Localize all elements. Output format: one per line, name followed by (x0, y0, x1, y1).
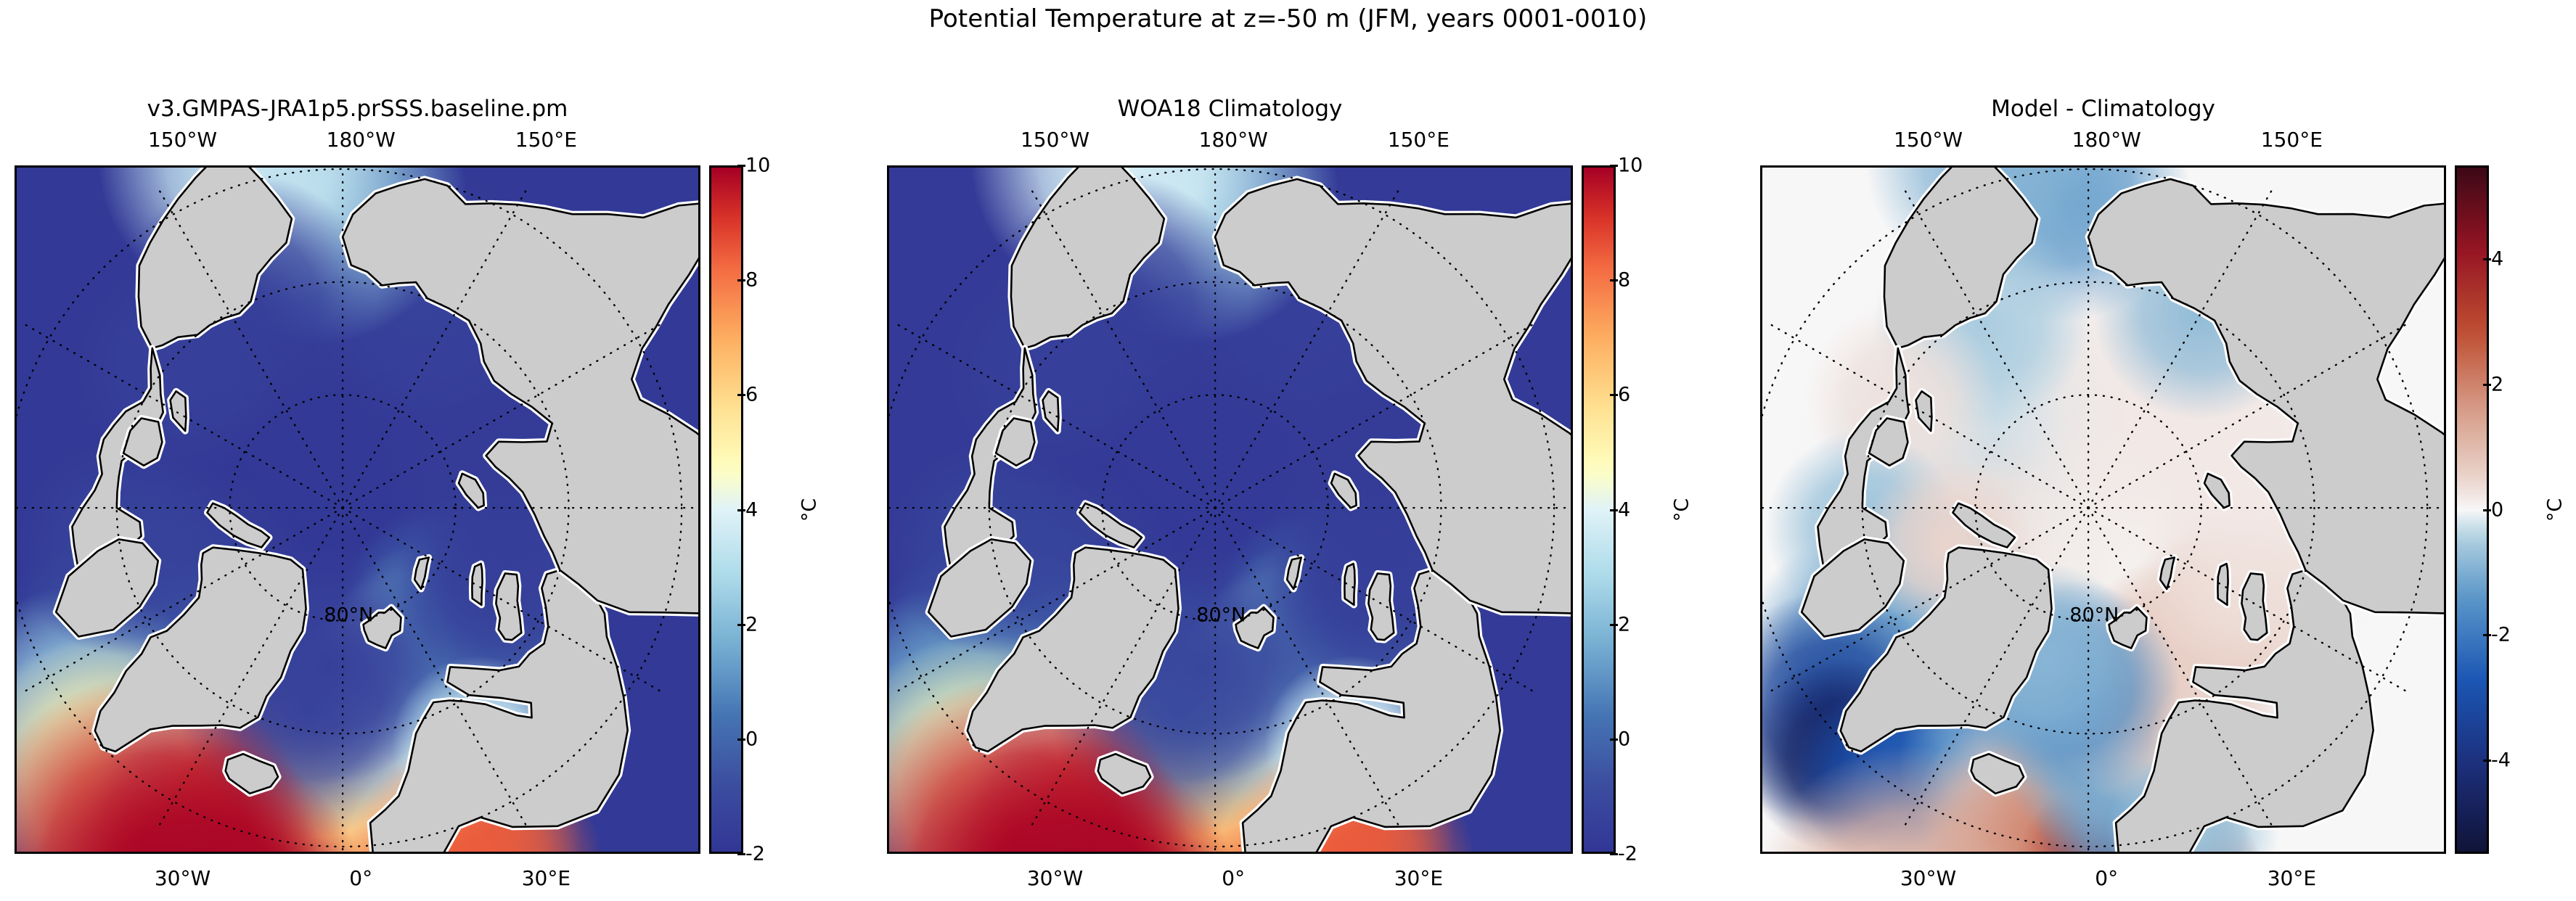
lon-tick-label-bottom: 0° (349, 866, 372, 890)
colorbar-tickmark (737, 624, 745, 626)
colorbar-tick-label: 2 (745, 613, 758, 635)
colorbar-tickmark (1610, 853, 1618, 855)
colorbar-tick-label: 0 (745, 728, 758, 750)
map-field-difference (1762, 168, 2444, 852)
colorbar-ticks-difference: -4-2024°C (2491, 165, 2576, 854)
colorbar-tickmark (2483, 760, 2491, 762)
lon-tick-label-bottom: 30°E (522, 866, 571, 890)
lon-tick-label-top: 150°E (515, 128, 577, 152)
colorbar-axis-label: °C (1671, 498, 1693, 521)
colorbar-tick-label: 10 (745, 155, 770, 177)
colorbar-tick-label: 10 (1618, 155, 1643, 177)
lon-tick-label-top: 180°W (327, 128, 396, 152)
colorbar-tick-label: -2 (1618, 843, 1637, 865)
colorbar-tick-label: 4 (1618, 498, 1630, 521)
lon-tick-label-top: 150°W (1894, 128, 1963, 152)
lon-tick-label-bottom: 0° (2095, 866, 2118, 890)
colorbar-tickmark (1610, 279, 1618, 281)
map-field-climatology (889, 168, 1571, 852)
lat-gridline-label: 80°N (1196, 604, 1246, 627)
coastline-novaya (1368, 573, 1394, 640)
colorbar-tick-label: 4 (2491, 248, 2503, 271)
colorbar-tickmark (1610, 165, 1618, 167)
coastline-novaya (496, 573, 521, 640)
colorbar-tick-label: 0 (1618, 728, 1630, 750)
colorbar-tickmark (737, 279, 745, 281)
colorbar-tickmark (1610, 739, 1618, 741)
colorbar-tick-label: 6 (1618, 384, 1630, 406)
lon-tick-label-top: 150°W (148, 128, 217, 152)
colorbar-tickmark (2483, 509, 2491, 511)
colorbar-tickmark (1610, 394, 1618, 396)
map-axes-difference[interactable]: 80°N (1760, 165, 2446, 854)
map-axes-climatology[interactable]: 80°N (887, 165, 1573, 854)
colorbar-tick-label: 8 (745, 269, 758, 292)
lon-tick-label-bottom: 30°W (1900, 866, 1956, 890)
coastline-novaya (2241, 573, 2267, 640)
colorbar-tickmark (737, 739, 745, 741)
figure-suptitle: Potential Temperature at z=-50 m (JFM, y… (0, 4, 2576, 33)
colorbar-tick-label: -2 (2491, 624, 2511, 646)
colorbar-tick-label: 4 (745, 498, 758, 521)
colorbar-axis-label: °C (2544, 498, 2567, 521)
lon-tick-label-bottom: 30°W (155, 866, 210, 890)
panel-title-difference: Model - Climatology (1717, 96, 2490, 122)
lon-tick-label-bottom: 30°E (1394, 866, 1443, 890)
panel-title-climatology: WOA18 Climatology (843, 96, 1616, 122)
map-axes-model[interactable]: 80°N (15, 165, 700, 854)
colorbar-tick-label: 6 (745, 384, 758, 406)
colorbar-tickmark (737, 394, 745, 396)
map-panel-difference: Model - Climatology 80°N 150°W180°W150°E… (1760, 165, 2446, 854)
panel-title-model: v3.GMPAS-JRA1p5.prSSS.baseline.pm (0, 96, 744, 122)
colorbar-ticks-climatology: -20246810°C (1618, 165, 1705, 854)
lon-tick-label-top: 150°E (1388, 128, 1449, 152)
colorbar-tick-label: -2 (745, 843, 765, 865)
lat-gridline-label: 80°N (2069, 604, 2119, 627)
lon-tick-label-bottom: 30°E (2268, 866, 2316, 890)
colorbar-tick-label: 2 (2491, 373, 2503, 395)
colorbar-axis-label: °C (798, 498, 821, 521)
map-field-model (17, 168, 698, 852)
colorbar-tickmark (1610, 624, 1618, 626)
colorbar-tickmark (737, 509, 745, 511)
lon-tick-label-top: 150°E (2261, 128, 2323, 152)
lon-tick-label-bottom: 30°W (1027, 866, 1083, 890)
map-panel-climatology: WOA18 Climatology 80°N 150°W180°W150°E30… (887, 165, 1573, 854)
lon-tick-label-top: 150°W (1021, 128, 1089, 152)
colorbar-tick-label: 8 (1618, 269, 1630, 292)
colorbar-tickmark (2483, 258, 2491, 260)
colorbar-tick-label: 0 (2491, 498, 2503, 521)
figure-canvas: Potential Temperature at z=-50 m (JFM, y… (0, 0, 2576, 901)
colorbar-tickmark (2483, 384, 2491, 386)
colorbar-ticks-model: -20246810°C (745, 165, 833, 854)
colorbar-tickmark (2483, 634, 2491, 636)
colorbar-tickmark (737, 853, 745, 855)
lon-tick-label-top: 180°W (2072, 128, 2141, 152)
lon-tick-label-top: 180°W (1199, 128, 1268, 152)
colorbar-tick-label: -4 (2491, 749, 2511, 771)
lat-gridline-label: 80°N (324, 604, 373, 627)
colorbar-tickmark (1610, 509, 1618, 511)
colorbar-tickmark (737, 165, 745, 167)
lon-tick-label-bottom: 0° (1222, 866, 1245, 890)
colorbar-tick-label: 2 (1618, 613, 1630, 635)
map-panel-model: v3.GMPAS-JRA1p5.prSSS.baseline.pm 80°N 1… (15, 165, 700, 854)
